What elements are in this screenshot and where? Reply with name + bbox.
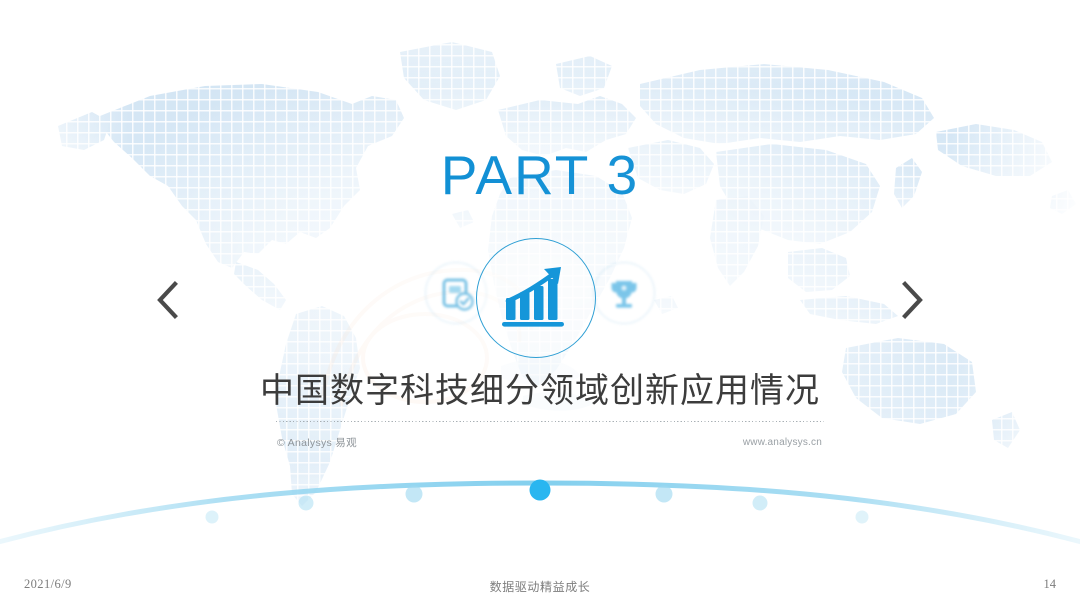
trophy-icon [587,256,661,330]
progress-dot-layer [206,480,869,524]
copyright-credit: © Analysys 易观 [277,435,357,450]
page-title: 中国数字科技细分领域创新应用情况 [0,370,1080,413]
dotted-divider [276,421,824,422]
progress-dot[interactable] [406,486,423,503]
progress-dot[interactable] [656,486,673,503]
slide-canvas: PART 3 [0,0,1080,608]
progress-dot[interactable] [206,511,219,524]
progress-dot-active[interactable] [530,480,551,501]
progress-dot[interactable] [856,511,869,524]
progress-dot[interactable] [299,496,314,511]
website-url[interactable]: www.analysys.cn [743,437,822,448]
bar-chart-growth-icon [476,238,596,358]
progress-arc [0,455,1080,555]
next-slide-button[interactable] [884,272,940,328]
progress-dot[interactable] [753,496,768,511]
footer-slogan: 数据驱动精益成长 [0,578,1080,595]
part-label: PART 3 [0,148,1080,203]
chevron-left-icon [153,279,183,321]
footer-page-number: 14 [1044,577,1057,592]
previous-slide-button[interactable] [140,272,196,328]
icon-cluster [415,238,665,358]
chevron-right-icon [897,279,927,321]
trophy-icon-ring [593,262,655,324]
